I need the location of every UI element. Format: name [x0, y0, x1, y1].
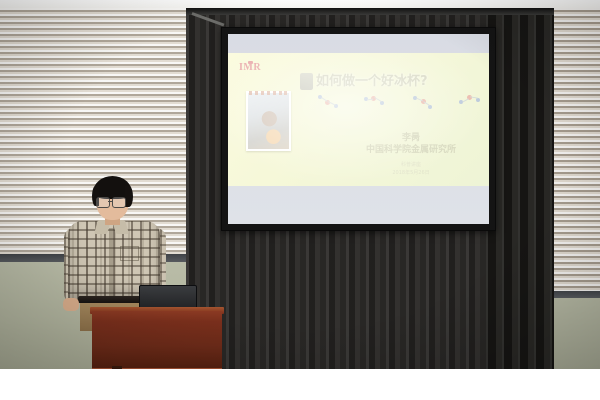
slide-author-organization: 中国科学院金属研究所 — [336, 144, 486, 157]
photograph: IMR 如何做一个好冰杯? — [0, 0, 600, 369]
ice-cup-glyph-icon — [300, 73, 313, 90]
shirt-placket — [109, 228, 113, 298]
slide-author-name: 李昺 — [336, 132, 486, 144]
glasses-right-lens — [112, 197, 126, 208]
slide-author-block: 李昺 中国科学院金属研究所 — [336, 132, 486, 157]
wall-upper-right — [548, 8, 600, 295]
projection-screen-frame: IMR 如何做一个好冰杯? — [221, 27, 496, 231]
water-molecule-graphic — [363, 94, 389, 110]
slide-title-row: 如何做一个好冰杯? — [300, 73, 486, 90]
wall-lower-right — [548, 298, 600, 369]
bottom-letterbox — [0, 369, 600, 400]
slide-subtitle-block: 科普讲座 2018年5月26日 — [336, 161, 486, 177]
glasses-left-lens — [96, 197, 110, 208]
presentation-slide: IMR 如何做一个好冰杯? — [228, 53, 489, 186]
slide-event-name: 科普讲座 — [336, 161, 486, 169]
presenter-belt — [78, 296, 146, 303]
slide-date: 2018年5月26日 — [336, 169, 486, 177]
presenter-left-hand — [63, 298, 79, 311]
presenter-hair-right — [125, 186, 133, 207]
slide-thumbnail-clips — [248, 91, 289, 95]
slide-title: 如何做一个好冰杯? — [316, 75, 428, 89]
slide-thumbnail-image — [248, 93, 289, 149]
glasses-bridge — [108, 201, 113, 202]
water-molecule-graphic — [316, 94, 342, 110]
curtain-rail — [186, 8, 554, 15]
screenshot-root: IMR 如何做一个好冰杯? — [0, 0, 600, 400]
logo-text: IMR — [239, 62, 261, 73]
slide-thumbnail-photo — [246, 91, 291, 151]
projection-screen-surface: IMR 如何做一个好冰杯? — [228, 34, 489, 224]
wooden-lectern — [92, 311, 222, 369]
water-molecule-graphic — [458, 94, 484, 110]
stage-curtain-right-panel — [486, 8, 554, 369]
shirt-pocket — [120, 246, 139, 261]
water-molecule-row — [316, 93, 484, 111]
imr-logo: IMR — [239, 61, 261, 73]
water-molecule-graphic — [411, 94, 437, 110]
